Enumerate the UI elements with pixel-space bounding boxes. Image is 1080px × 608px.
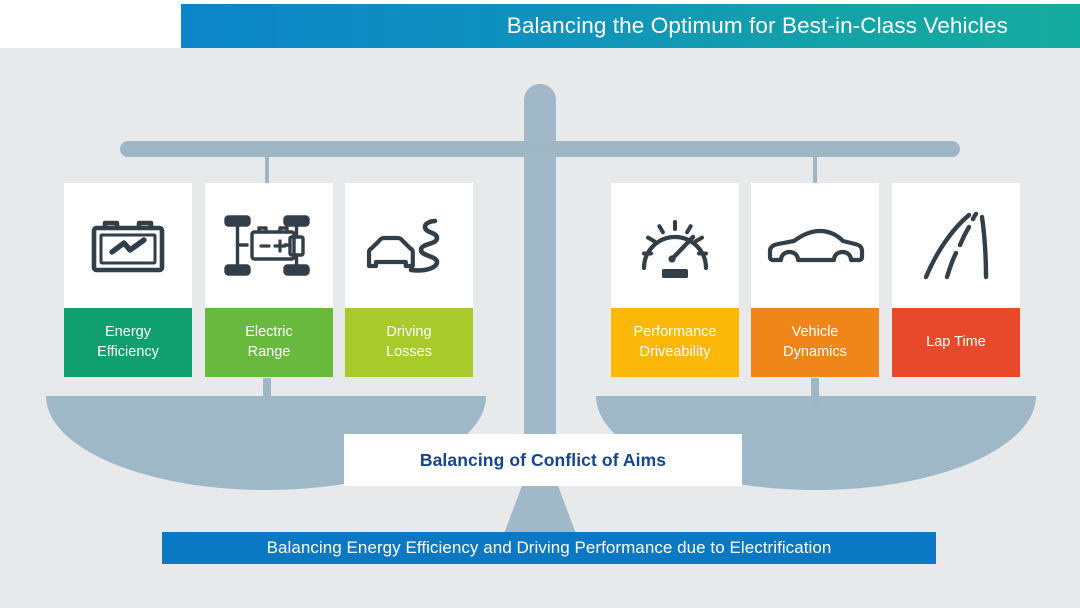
footer-text: Balancing Energy Efficiency and Driving … <box>267 538 832 558</box>
card-driving-losses[interactable]: DrivingLosses <box>345 183 473 377</box>
card-label-performance-driveability: PerformanceDriveability <box>611 308 739 377</box>
balance-pan-right-connector <box>811 378 819 406</box>
footer-banner: Balancing Energy Efficiency and Driving … <box>162 532 936 564</box>
header-banner: Balancing the Optimum for Best-in-Class … <box>181 4 1080 48</box>
card-lap-time[interactable]: Lap Time <box>892 183 1020 377</box>
card-vehicle-dynamics[interactable]: VehicleDynamics <box>751 183 879 377</box>
card-electric-range[interactable]: ElectricRange <box>205 183 333 377</box>
card-label-energy-efficiency: EnergyEfficiency <box>64 308 192 377</box>
speedometer-icon <box>611 183 739 308</box>
card-label-driving-losses: DrivingLosses <box>345 308 473 377</box>
balance-pan-left-connector <box>263 378 271 406</box>
card-performance-driveability[interactable]: PerformanceDriveability <box>611 183 739 377</box>
label-line-2: Efficiency <box>97 344 159 360</box>
callout-text: Balancing of Conflict of Aims <box>420 450 666 471</box>
label-line-1: Lap Time <box>926 333 986 352</box>
label-line-1: Electric <box>245 324 293 340</box>
card-label-lap-time: Lap Time <box>892 308 1020 377</box>
label-line-1: Driving <box>386 324 431 340</box>
slide-canvas: Balancing the Optimum for Best-in-Class … <box>0 0 1080 608</box>
balance-beam <box>120 141 960 157</box>
card-label-electric-range: ElectricRange <box>205 308 333 377</box>
label-line-2: Dynamics <box>783 344 847 360</box>
page-title: Balancing the Optimum for Best-in-Class … <box>507 13 1008 39</box>
card-label-vehicle-dynamics: VehicleDynamics <box>751 308 879 377</box>
label-line-1: Performance <box>633 324 716 340</box>
car-side-icon <box>751 183 879 308</box>
label-line-2: Range <box>248 344 291 360</box>
winding-road-icon <box>892 183 1020 308</box>
card-energy-efficiency[interactable]: EnergyEfficiency <box>64 183 192 377</box>
callout-box: Balancing of Conflict of Aims <box>344 434 742 486</box>
label-line-1: Vehicle <box>792 324 839 340</box>
chassis-battery-icon <box>205 183 333 308</box>
label-line-1: Energy <box>105 324 151 340</box>
battery-bolt-icon <box>64 183 192 308</box>
label-line-2: Driveability <box>640 344 711 360</box>
label-line-2: Losses <box>386 344 432 360</box>
car-skid-trail-icon <box>345 183 473 308</box>
